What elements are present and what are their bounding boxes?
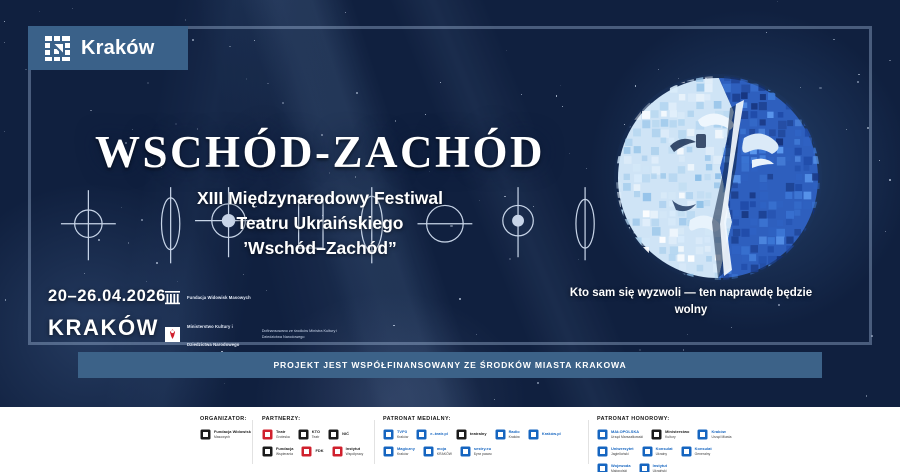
subtitle-line-1: XIII Międzynarodowy Festiwal: [0, 186, 640, 211]
teatr-groteska-mark-icon: [262, 429, 273, 440]
star-dot: [683, 349, 685, 351]
footer-logo-title: e–teatr.pl: [430, 432, 448, 437]
star-dot: [459, 298, 460, 299]
footer-logo-subtitle: Teatr: [312, 435, 320, 439]
footer-separator-0: [252, 420, 253, 464]
footer-column-3: PATRONAT HONOROWY:MAŁOPOLSKAUrząd Marsza…: [597, 416, 732, 472]
star-dot: [4, 42, 5, 43]
star-dot: [537, 382, 538, 383]
footer-logo-subtitle: Masowych: [214, 435, 251, 439]
footer-logo-text: sestry.euБути разом: [474, 447, 492, 456]
footer-logo-text: Kraków.pl: [542, 432, 561, 437]
moja-krakow-mark-icon: [423, 446, 434, 457]
krakow-pl-mark-icon: [528, 429, 539, 440]
nic-mark-icon: [328, 429, 339, 440]
star-dot: [521, 94, 522, 95]
cofinancing-strip: PROJEKT JEST WSPÓŁFINANSOWANY ZE ŚRODKÓW…: [78, 352, 822, 378]
footer-logo[interactable]: MagicznyKraków: [383, 446, 415, 457]
fundacja-f-mark-icon: [262, 446, 273, 457]
malopolska-mark-icon: [597, 429, 608, 440]
footer-logo[interactable]: KTOTeatr: [298, 429, 320, 440]
festival-poster: Kraków WSCHÓD-ZACHÓD: [0, 0, 900, 472]
footer-logo-subtitle: Jagielloński: [611, 452, 634, 456]
footer-logo-text: InstytutWspółpracy: [346, 447, 364, 456]
star-dot: [885, 231, 886, 232]
footer-logo[interactable]: sestry.euБути разом: [460, 446, 492, 457]
footer-column-heading: PATRONAT MEDIALNY:: [383, 416, 561, 422]
footer-column-heading: PARTNERZY:: [262, 416, 363, 422]
footer-logo-text: TVP3Kraków: [397, 430, 408, 439]
star-dot: [857, 81, 859, 83]
star-dot: [146, 281, 147, 282]
footer-logo-subtitle: Wspierania: [276, 452, 293, 456]
star-dot: [90, 110, 91, 111]
sponsors-footer: ORGANIZATOR:Fundacja WidowiskMasowychPAR…: [0, 407, 900, 472]
star-dot: [846, 129, 847, 130]
star-dot: [440, 82, 441, 83]
star-dot: [494, 399, 495, 400]
footer-logo-text: FundacjaWspierania: [276, 447, 293, 456]
footer-logo[interactable]: TeatrGroteska: [262, 429, 290, 440]
star-dot: [766, 32, 767, 33]
festival-city: KRAKÓW: [48, 315, 166, 341]
kto-teatr-mark-icon: [298, 429, 309, 440]
polish-eagle-mark-icon: [164, 326, 181, 343]
magiczny-krakow-mark-icon: [383, 446, 394, 457]
subtitle-line-3: ’Wschód–Zachód”: [0, 236, 640, 261]
cofinancing-strip-text: PROJEKT JEST WSPÓŁFINANSOWANY ZE ŚRODKÓW…: [273, 360, 626, 370]
footer-logo[interactable]: UniwersytetJagielloński: [597, 446, 634, 457]
footer-logo[interactable]: MAŁOPOLSKAUrząd Marszałkowski: [597, 429, 643, 440]
footer-logo-text: MagicznyKraków: [397, 447, 415, 456]
radio-krakow-mark-icon: [495, 429, 506, 440]
tvp3-mark-icon: [383, 429, 394, 440]
circle-color-mark-icon: [332, 446, 343, 457]
footer-logo-title: teatralny: [470, 432, 487, 437]
krakow-badge-label: Kraków: [81, 37, 154, 60]
star-dot: [345, 12, 346, 13]
footer-logo-subtitle: Kultury: [665, 435, 689, 439]
footer-logo[interactable]: KonsulatGeneralny: [681, 446, 712, 457]
konsulat2-mark-icon: [681, 446, 692, 457]
footer-logo[interactable]: KonsulatUkrainy: [642, 446, 673, 457]
krakow-city-badge: Kraków: [28, 26, 188, 70]
footer-logo-text: KrakówUrząd Miasta: [711, 430, 731, 439]
star-dot: [185, 19, 186, 20]
sestry-mark-icon: [460, 446, 471, 457]
footer-logo[interactable]: KrakówUrząd Miasta: [697, 429, 731, 440]
footer-logo-row: TVP3Krakówe–teatr.plteatralnyRadioKraków…: [383, 429, 561, 440]
star-dot: [658, 69, 659, 70]
instytut-mark-icon: [639, 463, 650, 472]
footer-logo-row: WojewodaMałopolskiInstytutUkraiński: [597, 463, 732, 472]
footer-logo-title: Kraków.pl: [542, 432, 561, 437]
wojewoda-mark-icon: [597, 463, 608, 472]
festival-title: WSCHÓD-ZACHÓD: [95, 126, 545, 178]
footer-logo-text: NIĆ: [342, 432, 349, 437]
footer-logo-title: NIĆ: [342, 432, 349, 437]
star-dot: [5, 299, 7, 301]
star-dot: [871, 335, 873, 337]
footer-logo-text: Fundacja WidowiskMasowych: [214, 430, 251, 439]
konsulat-ua-mark-icon: [642, 446, 653, 457]
hero-sponsor-ministry-note: Dofinansowano ze środków Ministra Kultur…: [262, 329, 344, 340]
footer-logo[interactable]: NIĆ: [328, 429, 349, 440]
festival-date: 20–26.04.2026: [48, 287, 166, 306]
footer-logo-row: Fundacja WidowiskMasowych: [200, 429, 251, 440]
star-dot: [506, 50, 508, 52]
hero-sponsor-ministry: Ministerstwo Kultury i Dziedzictwa Narod…: [164, 315, 344, 354]
teatralny-mark-icon: [456, 429, 467, 440]
star-dot: [879, 160, 880, 161]
footer-separator-2: [588, 420, 589, 464]
footer-logo-text: KonsulatGeneralny: [695, 447, 712, 456]
star-dot: [246, 78, 248, 80]
star-dot: [282, 102, 284, 104]
hero-sponsor-ministry-label: Ministerstwo Kultury i Dziedzictwa Narod…: [187, 324, 239, 347]
footer-logo-text: WojewodaMałopolski: [611, 464, 631, 472]
star-dot: [777, 1, 778, 2]
star-dot: [687, 334, 688, 335]
footer-logo[interactable]: teatralny: [456, 429, 487, 440]
eagle-mark-icon: [651, 429, 662, 440]
star-dot: [356, 92, 358, 94]
star-dot: [192, 39, 194, 41]
footer-logo-text: TeatrGroteska: [276, 430, 290, 439]
hero-sponsor-fundacja: Fundacja Widowisk Masowych: [164, 289, 344, 306]
footer-logo-text: UniwersytetJagielloński: [611, 447, 634, 456]
fdk-mark-icon: [301, 446, 312, 457]
footer-logo-subtitle: Generalny: [695, 452, 712, 456]
subtitle-line-2: Teatru Ukraińskiego: [0, 211, 640, 236]
footer-logo-subtitle: Kraków: [397, 435, 408, 439]
footer-logo-row: MagicznyKrakówmojaKRAKÓWsestry.euБути ра…: [383, 446, 561, 457]
star-dot: [889, 60, 890, 61]
fundacja-mark-icon: [200, 429, 211, 440]
star-dot: [858, 74, 859, 75]
star-dot: [731, 327, 732, 328]
uniwersytet-mark-icon: [597, 446, 608, 457]
star-dot: [254, 40, 256, 42]
festival-tagline: Kto sam się wyzwoli — ten naprawdę będzi…: [560, 285, 822, 320]
star-dot: [147, 82, 149, 84]
footer-logo[interactable]: Fundacja WidowiskMasowych: [200, 429, 251, 440]
footer-logo-text: MinisterstwoKultury: [665, 430, 689, 439]
footer-logo[interactable]: FundacjaWspierania: [262, 446, 293, 457]
footer-logo-text: FDK: [315, 449, 323, 454]
footer-column-1: PARTNERZY:TeatrGroteskaKTOTeatrNIĆFundac…: [262, 416, 363, 463]
star-dot: [425, 114, 426, 115]
footer-logo-text: RadioKraków: [509, 430, 520, 439]
footer-logo-subtitle: Бути разом: [474, 452, 492, 456]
footer-logo-text: KTOTeatr: [312, 430, 320, 439]
star-dot: [866, 395, 868, 397]
star-dot: [889, 179, 891, 181]
footer-logo-subtitle: Współpracy: [346, 452, 364, 456]
footer-logo[interactable]: InstytutWspółpracy: [332, 446, 364, 457]
footer-logo-subtitle: Ukrainy: [656, 452, 673, 456]
footer-logo-subtitle: Kraków: [397, 452, 415, 456]
footer-logo[interactable]: Kraków.pl: [528, 429, 561, 440]
footer-logo-title: FDK: [315, 449, 323, 454]
footer-logo[interactable]: WojewodaMałopolski: [597, 463, 631, 472]
footer-logo[interactable]: e–teatr.pl: [416, 429, 448, 440]
star-dot: [393, 325, 394, 326]
footer-column-heading: PATRONAT HONOROWY:: [597, 416, 732, 422]
footer-logo-text: mojaKRAKÓW: [437, 447, 452, 456]
eteatr-mark-icon: [416, 429, 427, 440]
footer-logo[interactable]: MinisterstwoKultury: [651, 429, 689, 440]
footer-column-heading: ORGANIZATOR:: [200, 416, 251, 422]
footer-logo-row: MAŁOPOLSKAUrząd MarszałkowskiMinisterstw…: [597, 429, 732, 440]
mosaic-theatre-masks-artwork: [612, 72, 824, 284]
footer-logo-text: teatralny: [470, 432, 487, 437]
footer-logo-subtitle: KRAKÓW: [437, 452, 452, 456]
hero-sponsor-fundacja-label: Fundacja Widowisk Masowych: [187, 295, 251, 301]
footer-logo-text: InstytutUkraiński: [653, 464, 667, 472]
star-dot: [224, 383, 225, 384]
star-dot: [562, 106, 564, 108]
footer-logo-subtitle: Urząd Miasta: [711, 435, 731, 439]
footer-logo-row: TeatrGroteskaKTOTeatrNIĆ: [262, 429, 363, 440]
star-dot: [39, 11, 40, 12]
festival-subtitle: XIII Międzynarodowy Festiwal Teatru Ukra…: [0, 186, 640, 261]
date-location-block: 20–26.04.2026 KRAKÓW: [48, 287, 166, 341]
footer-separator-1: [374, 420, 375, 464]
footer-column-2: PATRONAT MEDIALNY:TVP3Krakówe–teatr.plte…: [383, 416, 561, 463]
footer-logo[interactable]: InstytutUkraiński: [639, 463, 667, 472]
star-dot: [639, 349, 641, 351]
krakow-mark-icon: [697, 429, 708, 440]
footer-logo[interactable]: RadioKraków: [495, 429, 520, 440]
star-dot: [72, 8, 73, 9]
star-dot: [476, 334, 477, 335]
footer-column-0: ORGANIZATOR:Fundacja WidowiskMasowych: [200, 416, 251, 446]
footer-logo[interactable]: FDK: [301, 446, 323, 457]
footer-logo-subtitle: Groteska: [276, 435, 290, 439]
star-dot: [556, 95, 557, 96]
footer-logo-text: e–teatr.pl: [430, 432, 448, 437]
krakow-blocks-logo-icon: [45, 36, 70, 61]
fundacja-widowisk-masowych-mark-icon: [164, 289, 181, 306]
hero-sponsor-ministry-text: Ministerstwo Kultury i Dziedzictwa Narod…: [187, 315, 256, 354]
footer-logo-row: UniwersytetJagiellońskiKonsulatUkrainyKo…: [597, 446, 732, 457]
footer-logo-subtitle: Kraków: [509, 435, 520, 439]
star-dot: [560, 85, 561, 86]
star-dot: [229, 46, 231, 48]
star-dot: [25, 69, 27, 71]
star-dot: [867, 127, 869, 129]
hero-section: Kraków WSCHÓD-ZACHÓD: [0, 0, 900, 407]
footer-logo-subtitle: Urząd Marszałkowski: [611, 435, 643, 439]
star-dot: [267, 83, 268, 84]
star-dot: [177, 281, 178, 282]
star-dot: [833, 39, 835, 41]
footer-logo-row: FundacjaWspieraniaFDKInstytutWspółpracy: [262, 446, 363, 457]
star-dot: [175, 123, 177, 125]
star-dot: [395, 120, 396, 121]
star-dot: [4, 21, 5, 22]
footer-logo[interactable]: TVP3Kraków: [383, 429, 408, 440]
footer-logo[interactable]: mojaKRAKÓW: [423, 446, 452, 457]
footer-logo-text: MAŁOPOLSKAUrząd Marszałkowski: [611, 430, 643, 439]
footer-logo-text: KonsulatUkrainy: [656, 447, 673, 456]
